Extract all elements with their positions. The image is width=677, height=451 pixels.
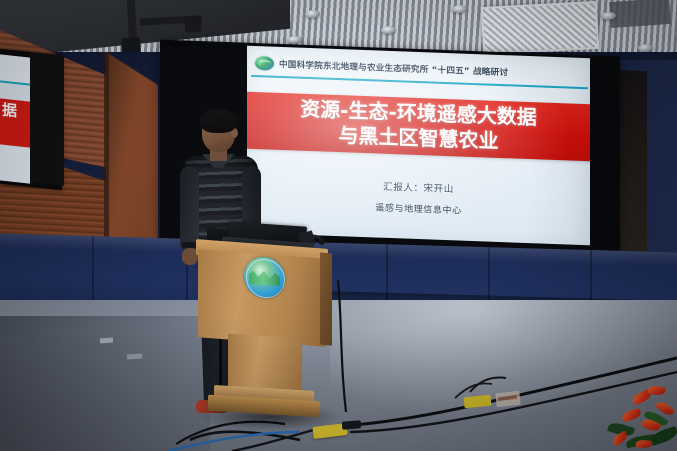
cable-podium-drop bbox=[338, 280, 346, 412]
cable-blue bbox=[168, 432, 300, 451]
cable-adapter bbox=[342, 420, 362, 430]
flower-petal bbox=[621, 408, 642, 422]
ceiling-air-vent-icon bbox=[481, 1, 599, 55]
flower-petal bbox=[636, 439, 653, 449]
red-flower-arrangement bbox=[604, 384, 677, 451]
presentation-photo: 据 中国科学院东北地理与农业生态研究所 “十四五” 战略研讨 资源-生态-环境遥… bbox=[0, 0, 677, 451]
presentation-slide[interactable]: 中国科学院东北地理与农业生态研究所 “十四五” 战略研讨 资源-生态-环境遥感大… bbox=[247, 46, 590, 253]
slide-presenter: 汇报人：宋开山 bbox=[247, 174, 590, 201]
monitor-slide-footer bbox=[0, 146, 30, 183]
monitor-slide-text: 据 bbox=[2, 103, 16, 119]
left-wall-monitor[interactable]: 据 bbox=[0, 54, 30, 183]
ceiling-mount-bracket bbox=[185, 16, 202, 33]
monitor-slide-header bbox=[0, 54, 30, 83]
podium-column bbox=[228, 334, 302, 394]
presenter-hair bbox=[200, 109, 237, 133]
slide-header-text: 中国科学院东北地理与农业生态研究所 “十四五” 战略研讨 bbox=[279, 58, 508, 78]
ceiling-air-vent-secondary bbox=[609, 0, 671, 28]
cas-institute-logo-icon bbox=[255, 56, 274, 71]
paper-card bbox=[495, 391, 520, 407]
left-wall-monitor-bezel bbox=[30, 52, 64, 186]
slide-title-band: 资源-生态-环境遥感大数据 与黑土区智慧农业 bbox=[247, 92, 590, 162]
slide-affiliation: 遥感与地理信息中心 bbox=[247, 196, 590, 222]
podium-side-edge bbox=[320, 253, 332, 346]
microphone-capsule-icon bbox=[318, 238, 325, 245]
